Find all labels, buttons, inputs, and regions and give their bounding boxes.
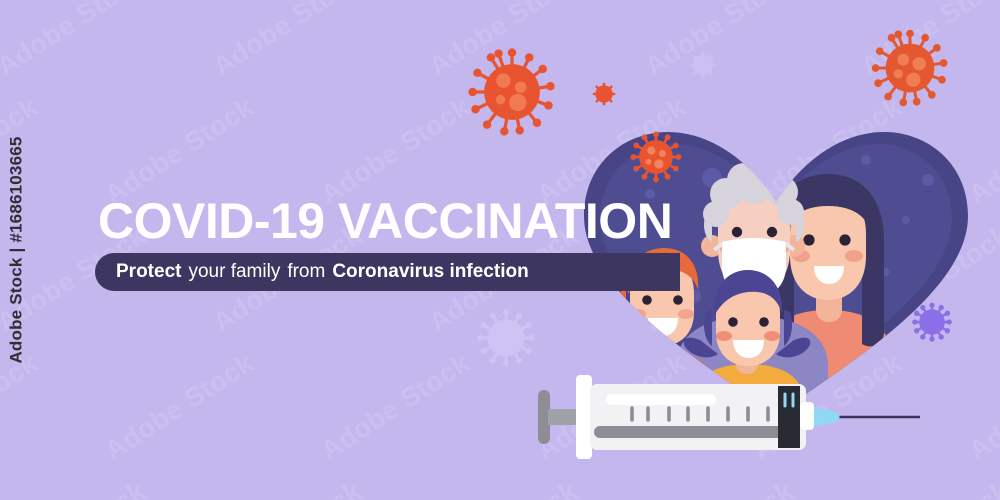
syringe-highlight (606, 394, 716, 405)
watermark-text: Adobe Stock (856, 476, 1000, 500)
virus-inside-heart (627, 128, 685, 186)
mother-eye-right (839, 234, 850, 245)
dot (861, 155, 871, 165)
virus-small-middle (590, 80, 618, 108)
girl-eye-right (759, 317, 769, 327)
virus-pale-middle (686, 48, 720, 82)
girl-cheek-right (764, 331, 780, 341)
syringe-barrel (590, 384, 806, 450)
subtitle-word-from: from (287, 261, 325, 283)
boy-cheek-right (678, 309, 694, 319)
syringe-luer-neck (800, 402, 814, 430)
syringe-fill-bar (594, 426, 786, 438)
syringe-stopper (778, 386, 800, 448)
virus-top-right (868, 26, 952, 110)
virus-large-left (464, 44, 560, 140)
boy-hair-side (619, 288, 626, 318)
banner-canvas: Adobe StockAdobe StockAdobe StockAdobe S… (0, 0, 1000, 500)
girl-cheek-left (716, 331, 732, 341)
boy-eye-right (673, 295, 683, 305)
page-title: COVID-19 VACCINATION (98, 196, 672, 246)
mother-cheek-right (845, 250, 863, 262)
vaccine-syringe (520, 362, 920, 472)
watermark-text: Adobe Stock (316, 348, 476, 467)
mother-eye-left (803, 234, 814, 245)
watermark-text: Adobe Stock (424, 476, 584, 500)
grandfather-eye-left (732, 227, 742, 237)
subtitle-word-your-family: your family (188, 261, 280, 283)
watermark-text: Adobe Stock (208, 0, 368, 82)
watermark-text: Adobe Stock (640, 476, 800, 500)
stock-credit: Adobe Stock | #1686103665 (0, 0, 36, 500)
syringe-flange (576, 375, 592, 459)
boy-cheek-left (630, 309, 646, 319)
dot (902, 216, 910, 224)
watermark-text: Adobe Stock (100, 348, 260, 467)
stock-credit-text: Adobe Stock | #1686103665 (7, 136, 27, 363)
subtitle-text: Protect your family from Coronavirus inf… (116, 253, 529, 291)
grandfather-eye-right (767, 227, 777, 237)
watermark-text: Adobe Stock (208, 476, 368, 500)
subtitle-word-protect: Protect (116, 261, 181, 283)
boy-eye-left (642, 295, 652, 305)
girl-eye-left (728, 317, 738, 327)
dot (922, 174, 934, 186)
subtitle-word-coronavirus-infection: Coronavirus infection (332, 261, 528, 283)
dot (808, 144, 816, 152)
virus-purple-right (910, 300, 954, 344)
